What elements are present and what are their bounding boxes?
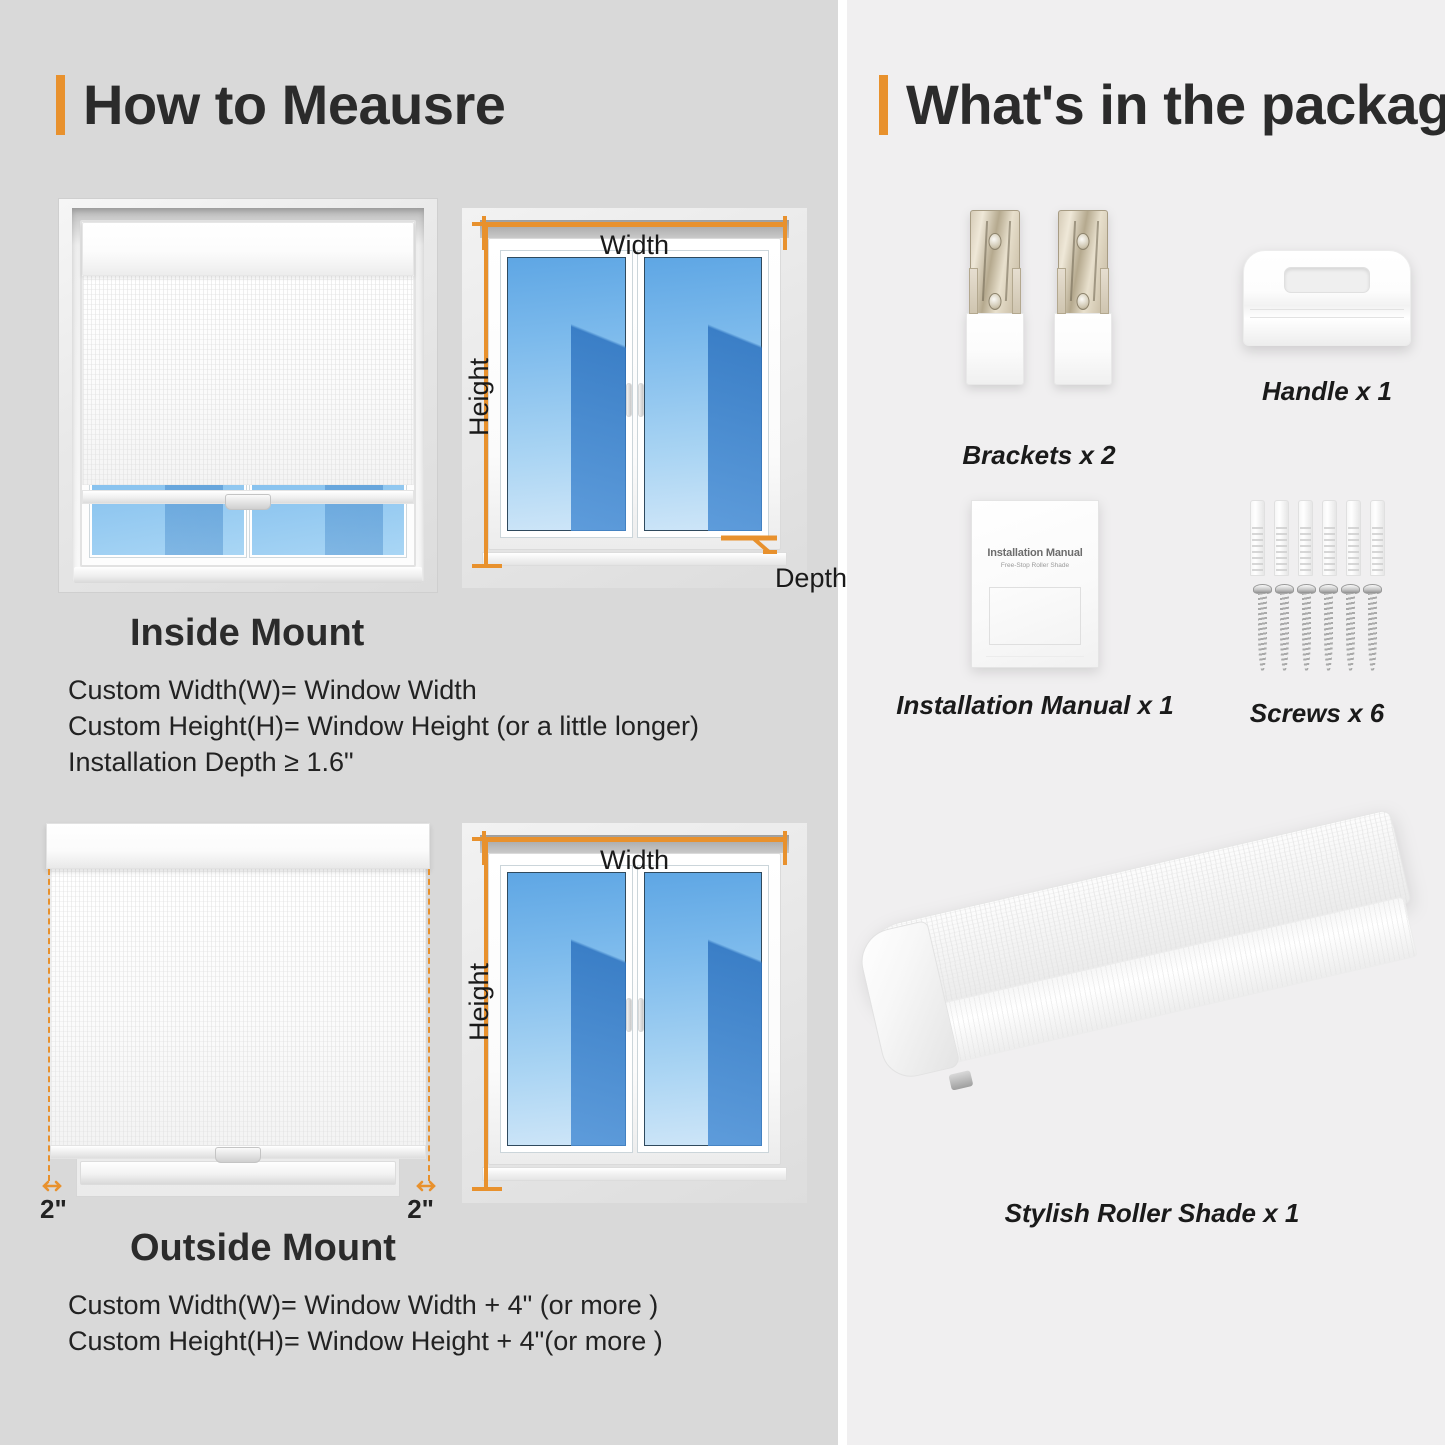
inside-mount-shade-illustration: [58, 198, 438, 593]
handle-icon: [638, 383, 644, 417]
bracket-plastic-base: [1054, 313, 1112, 385]
diagram-sash-right: [638, 251, 769, 537]
handle-icon: [626, 998, 632, 1032]
screw-shaft: [1258, 593, 1267, 672]
shade-fabric: [82, 276, 414, 485]
screw-icon: [1322, 584, 1335, 672]
package-item-screws: Screws x 6: [1167, 500, 1445, 729]
outside-mount-instructions: Custom Width(W)= Window Width + 4" (or m…: [68, 1288, 838, 1360]
handle-ridge: [1250, 317, 1404, 318]
screw-icon: [1366, 584, 1379, 672]
outside-mount-section: 2" 2": [0, 805, 838, 1360]
instruction-line: Installation Depth ≥ 1.6": [68, 745, 838, 781]
handle-icon: [626, 383, 632, 417]
accent-bar-icon: [879, 75, 888, 135]
diagram-sill: [482, 1167, 787, 1181]
wall-anchor-icon: [1370, 500, 1385, 576]
manual-footer-rule: [986, 656, 1084, 657]
shade-fabric: [50, 869, 426, 1147]
diagram-handles: [626, 383, 644, 417]
bracket-slot: [969, 268, 978, 314]
panel-title: How to Meausre: [83, 72, 505, 137]
inside-mount-instructions: Custom Width(W)= Window Width Custom Hei…: [68, 673, 838, 781]
overhang-label-left: 2": [40, 1194, 67, 1225]
outside-mount-title: Outside Mount: [130, 1227, 838, 1270]
manual-cover-title: Installation Manual: [984, 547, 1086, 559]
bracket-hole: [1077, 293, 1090, 310]
shade-pull-tab-icon: [215, 1147, 261, 1163]
wall-anchor-icon: [1274, 500, 1289, 576]
bracket-hole: [1077, 233, 1090, 250]
package-item-brackets: Brackets x 2: [889, 210, 1189, 471]
brackets-image: [889, 210, 1189, 390]
manual-label: Installation Manual x 1: [875, 690, 1195, 721]
inside-mount-title: Inside Mount: [130, 612, 838, 655]
overhang-arrows-left: [42, 1179, 88, 1191]
bracket-hole: [989, 293, 1002, 310]
overhang-arrows-right: [392, 1179, 438, 1191]
height-marker-cap-top: [472, 222, 502, 226]
package-contents-panel: What's in the package: [847, 0, 1445, 1445]
overhang-guide-right: [428, 869, 430, 1181]
width-marker: [484, 837, 785, 842]
roller-shade-image: [867, 860, 1427, 1190]
diagram-sash-left: [501, 866, 632, 1152]
window-measure-diagram-outside: Width Height: [462, 823, 807, 1203]
how-to-measure-panel: How to Meausre: [0, 0, 838, 1445]
screw-shaft: [1346, 593, 1355, 672]
handle-ridge: [1250, 309, 1404, 310]
instruction-line: Custom Width(W)= Window Width: [68, 673, 838, 709]
handle-icon: [1243, 250, 1411, 346]
outside-mount-shade-illustration: 2" 2": [28, 815, 448, 1215]
bracket-slot: [1012, 268, 1021, 314]
package-item-handle: Handle x 1: [1177, 220, 1445, 407]
bracket-slot: [1100, 268, 1109, 314]
screw-icon: [1278, 584, 1291, 672]
wall-anchor-icon: [1346, 500, 1361, 576]
outside-window-sill: [80, 1161, 396, 1185]
panel-divider: [838, 0, 847, 1445]
wall-anchor-icon: [1250, 500, 1265, 576]
bracket-icon: [1054, 210, 1112, 385]
bracket-icon: [966, 210, 1024, 385]
diagram-handles: [626, 998, 644, 1032]
wall-anchor-icon: [1298, 500, 1313, 576]
bracket-slot: [1057, 268, 1066, 314]
bracket-hole: [989, 233, 1002, 250]
width-label: Width: [600, 230, 669, 261]
height-marker-cap-bottom: [472, 564, 502, 568]
screws-label: Screws x 6: [1167, 698, 1445, 729]
shade-pull-tab-icon: [225, 494, 271, 510]
width-marker-cap-right: [783, 216, 787, 250]
window-measure-diagram-inside: Width Height Depth: [462, 208, 807, 588]
roller-shade-label: Stylish Roller Shade x 1: [867, 1198, 1437, 1229]
handle-label: Handle x 1: [1177, 376, 1445, 407]
instruction-line: Custom Height(H)= Window Height + 4"(or …: [68, 1324, 838, 1360]
shade-headrail: [82, 222, 414, 276]
diagram-sash-right: [638, 866, 769, 1152]
width-marker: [484, 222, 785, 227]
wall-anchors-group: [1167, 500, 1445, 576]
handle-icon: [638, 998, 644, 1032]
screw-shaft: [1324, 593, 1333, 672]
wall-anchor-icon: [1322, 500, 1337, 576]
shade-headrail: [46, 823, 430, 869]
width-marker-cap-right: [783, 831, 787, 865]
overhang-guide-left: [48, 869, 50, 1181]
window-sill: [74, 567, 422, 583]
screw-icon: [1256, 584, 1269, 672]
package-item-roller-shade: Stylish Roller Shade x 1: [867, 860, 1437, 1229]
roller-shade-tip: [948, 1070, 973, 1091]
instruction-line: Custom Height(H)= Window Height (or a li…: [68, 709, 838, 745]
panel-title: What's in the package: [906, 72, 1445, 137]
bracket-plastic-base: [966, 313, 1024, 385]
handle-grip-slot: [1284, 267, 1370, 293]
height-label: Height: [464, 963, 495, 1041]
screw-icon: [1344, 584, 1357, 672]
screws-group: [1167, 584, 1445, 672]
instruction-line: Custom Width(W)= Window Width + 4" (or m…: [68, 1288, 838, 1324]
manual-icon: Installation Manual Free-Stop Roller Sha…: [971, 500, 1099, 668]
height-marker-cap-top: [472, 837, 502, 841]
height-marker-cap-bottom: [472, 1187, 502, 1191]
overhang-label-right: 2": [407, 1194, 434, 1225]
inside-mount-section: Width Height Depth Inside Mount Cust: [0, 190, 838, 781]
package-heading: What's in the package: [879, 72, 1445, 137]
width-label: Width: [600, 845, 669, 876]
screw-shaft: [1280, 593, 1289, 672]
accent-bar-icon: [56, 75, 65, 135]
screw-icon: [1300, 584, 1313, 672]
diagram-sash-left: [501, 251, 632, 537]
screw-shaft: [1368, 593, 1377, 672]
how-to-measure-heading: How to Meausre: [56, 72, 505, 137]
height-label: Height: [464, 358, 495, 436]
inside-mount-figures: Width Height Depth: [0, 190, 838, 590]
outside-mount-figures: 2" 2": [0, 805, 838, 1205]
roller-shade-icon: [856, 809, 1428, 1098]
package-item-manual: Installation Manual Free-Stop Roller Sha…: [875, 500, 1195, 721]
depth-marker-icon: [719, 529, 789, 560]
depth-label: Depth: [775, 563, 847, 594]
screw-shaft: [1302, 593, 1311, 672]
brackets-label: Brackets x 2: [889, 440, 1189, 471]
manual-cover-figure: [989, 587, 1081, 645]
product-infographic: How to Meausre: [0, 0, 1445, 1445]
manual-cover-subtitle: Free-Stop Roller Shade: [984, 562, 1086, 569]
